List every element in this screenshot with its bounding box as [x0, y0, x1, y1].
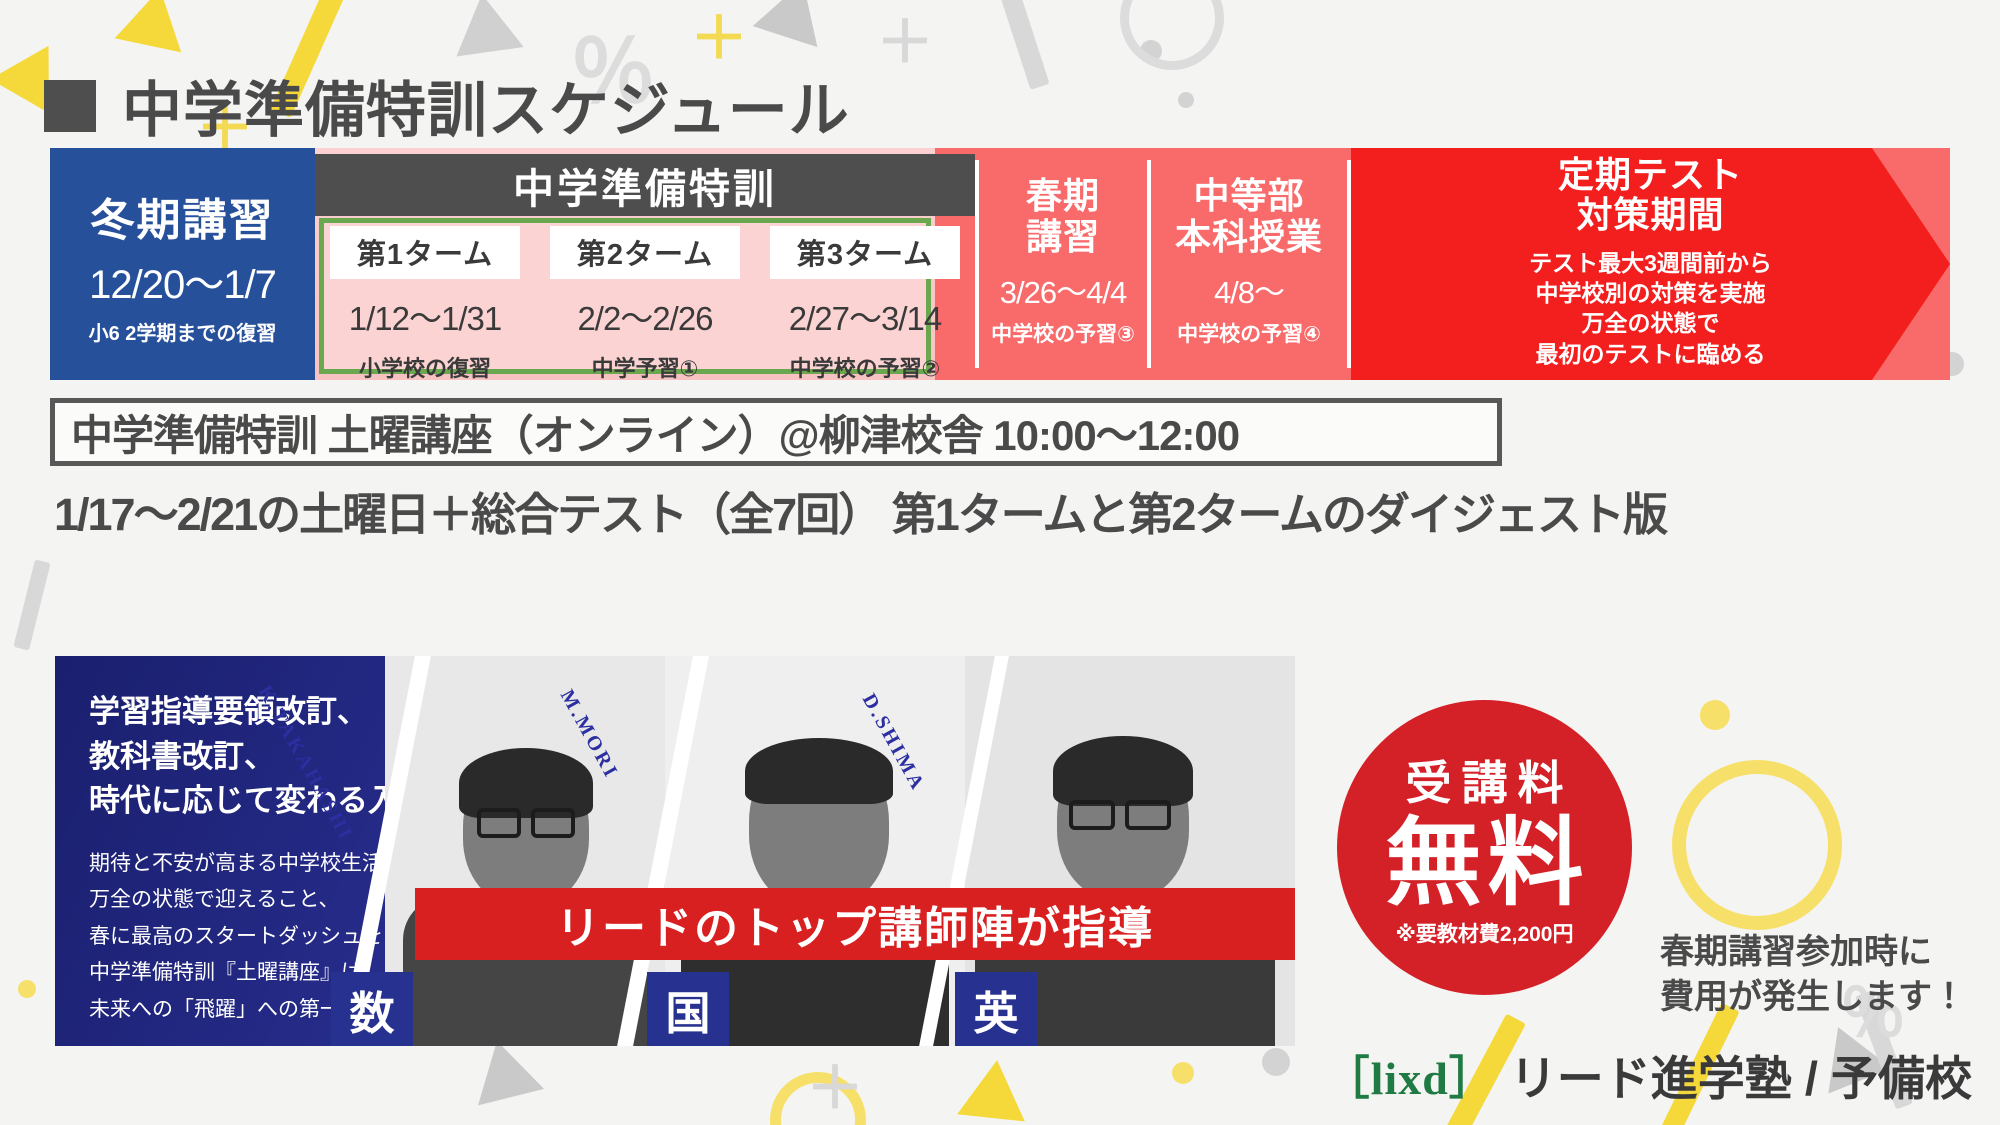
test-detail-line-1: テスト最大3週間前から	[1529, 248, 1772, 278]
test-detail-line-4: 最初のテストに臨める	[1529, 339, 1772, 369]
decor-stripe	[990, 0, 1049, 90]
spring-desc: 中学校の予習③	[991, 318, 1135, 348]
schedule-block-winter: 冬期講習 12/20〜1/7 小6 2学期までの復習	[50, 148, 315, 380]
decor-plus-icon: ＋	[876, 14, 934, 72]
decor-triangle-icon	[115, 0, 194, 52]
term2-desc: 中学予習①	[592, 351, 699, 383]
subject-tag-math: 数	[331, 972, 413, 1046]
term1-label: 第1ターム	[330, 226, 519, 279]
test-period-detail: テスト最大3週間前から 中学校別の対策を実施 万全の状態で 最初のテストに臨める	[1529, 248, 1772, 369]
subject-tag-english: 英	[955, 972, 1037, 1046]
term-column-1: 第1ターム 1/12〜1/31 小学校の復習	[315, 218, 535, 374]
saturday-course-title: 中学準備特訓 土曜講座（オンライン）@柳津校舎 10:00〜12:00	[71, 402, 1239, 463]
term-columns: 第1ターム 1/12〜1/31 小学校の復習 第2ターム 2/2〜2/26 中学…	[315, 218, 975, 374]
term-column-2: 第2ターム 2/2〜2/26 中学予習①	[535, 218, 755, 374]
spring-date: 3/26〜4/4	[1000, 267, 1126, 312]
prep-group-title: 中学準備特訓	[513, 155, 777, 215]
schedule-block-prep: 中学準備特訓 第1ターム 1/12〜1/31 小学校の復習 第2ターム 2/2〜…	[315, 148, 975, 380]
page-title-row: 中学準備特訓スケジュール	[44, 62, 850, 149]
page-title: 中学準備特訓スケジュール	[122, 62, 850, 149]
test-period-title: 定期テスト 対策期間	[1558, 155, 1743, 236]
divider	[1347, 160, 1351, 368]
subject-tag-math-label: 数	[349, 977, 394, 1042]
honka-desc: 中学校の予習④	[1177, 318, 1321, 348]
term2-label: 第2ターム	[550, 226, 739, 279]
decor-ring-icon	[1120, 0, 1224, 70]
brand-logo-mark: ［lixd］	[1324, 1042, 1496, 1108]
brand-logo-text: リード進学塾 / 予備校	[1510, 1040, 1972, 1109]
term-column-3: 第3ターム 2/27〜3/14 中学校の予習②	[755, 218, 975, 374]
teacher3-glasses-icon	[1125, 800, 1171, 830]
seal-caution-text: 春期講習参加時に 費用が発生します！	[1660, 930, 1966, 1020]
decor-triangle-icon	[753, 0, 836, 47]
decor-triangle-icon	[448, 0, 523, 56]
decor-dot-icon	[1172, 1062, 1194, 1084]
schedule-block-spring: 春期 講習 3/26〜4/4 中学校の予習③	[979, 148, 1147, 380]
term3-date: 2/27〜3/14	[789, 292, 941, 340]
banner-red-strip: リードのトップ講師陣が指導	[415, 888, 1295, 960]
decor-ring-icon	[770, 1072, 866, 1125]
seal-caution-line-2: 費用が発生します！	[1660, 975, 1966, 1020]
prep-group-header: 中学準備特訓	[315, 154, 975, 216]
term1-date: 1/12〜1/31	[349, 292, 501, 340]
decor-plus-icon: ＋	[690, 10, 748, 68]
decor-dot-icon	[1178, 92, 1194, 108]
honka-date: 4/8〜	[1214, 267, 1284, 312]
test-title-line1: 定期テスト	[1558, 155, 1743, 195]
spring-title: 春期 講習	[1026, 176, 1100, 257]
poster-canvas: ＋ ＋ ＋ ＋ ％ ％ 中学準備特訓スケジュール 冬期講習 12/20〜1/7 …	[0, 0, 2000, 1125]
spring-title-line2: 講習	[1026, 217, 1100, 257]
decor-triangle-icon	[957, 1057, 1031, 1122]
winter-desc: 小6 2学期までの復習	[89, 317, 277, 346]
saturday-course-subtitle: 1/17〜2/21の土曜日＋総合テスト（全7回） 第1タームと第2タームのダイジ…	[54, 478, 1666, 543]
teacher1-glasses-icon	[531, 808, 575, 838]
price-seal-badge: 受講料 無料 ※要教材費2,200円	[1337, 700, 1632, 995]
schedule-red-zone: 春期 講習 3/26〜4/4 中学校の予習③ 中等部 本科授業 4/8〜 中学校…	[975, 148, 1950, 380]
term2-date: 2/2〜2/26	[577, 292, 712, 340]
brand-logo: ［lixd］ リード進学塾 / 予備校	[1324, 1040, 1972, 1109]
spring-title-line1: 春期	[1026, 176, 1100, 216]
seal-top-text: 受講料	[1396, 747, 1574, 813]
decor-dot-icon	[1700, 700, 1730, 730]
seal-main-text: 無料	[1380, 815, 1590, 913]
honka-title-line2: 本科授業	[1175, 217, 1323, 257]
winter-date: 12/20〜1/7	[89, 252, 276, 310]
winter-title: 冬期講習	[91, 184, 275, 248]
decor-plus-icon: ＋	[806, 1060, 864, 1118]
schedule-block-test-period: 定期テスト 対策期間 テスト最大3週間前から 中学校別の対策を実施 万全の状態で…	[1351, 148, 1950, 380]
decor-dot-icon	[1140, 40, 1162, 62]
test-title-line2: 対策期間	[1558, 195, 1743, 235]
test-detail-line-2: 中学校別の対策を実施	[1529, 278, 1772, 308]
saturday-course-box: 中学準備特訓 土曜講座（オンライン）@柳津校舎 10:00〜12:00	[50, 398, 1502, 466]
honka-title: 中等部 本科授業	[1175, 176, 1323, 257]
test-detail-line-3: 万全の状態で	[1529, 308, 1772, 338]
decor-stripe	[13, 559, 50, 650]
schedule-band: 冬期講習 12/20〜1/7 小6 2学期までの復習 中学準備特訓 第1ターム …	[50, 148, 1950, 380]
term1-desc: 小学校の復習	[359, 351, 491, 383]
decor-dot-icon	[1262, 1048, 1290, 1076]
teacher1-glasses-icon	[477, 808, 521, 838]
teacher-photo-1	[385, 656, 665, 1046]
honka-title-line1: 中等部	[1175, 176, 1323, 216]
term3-label: 第3ターム	[770, 226, 959, 279]
teacher1-hair	[459, 748, 593, 818]
seal-note: ※要教材費2,200円	[1396, 918, 1574, 948]
subject-tag-english-label: 英	[973, 977, 1018, 1042]
term3-desc: 中学校の予習②	[790, 351, 941, 383]
decor-ring-icon	[1672, 760, 1842, 930]
square-bullet-icon	[44, 80, 96, 132]
subject-tag-japanese-label: 国	[665, 977, 710, 1042]
teacher-photo-banner: 学習指導要領改訂、 教科書改訂、 時代に応じて変わる入試制度。 期待と不安が高ま…	[55, 656, 1295, 1046]
teacher3-glasses-icon	[1069, 800, 1115, 830]
teacher3-hair	[1053, 736, 1193, 806]
schedule-block-honka: 中等部 本科授業 4/8〜 中学校の予習④	[1151, 148, 1347, 380]
decor-dot-icon	[18, 980, 36, 998]
subject-tag-japanese: 国	[647, 972, 729, 1046]
banner-red-strip-text: リードのトップ講師陣が指導	[556, 892, 1154, 956]
teacher2-hair	[745, 738, 893, 804]
seal-caution-line-1: 春期講習参加時に	[1660, 930, 1966, 975]
